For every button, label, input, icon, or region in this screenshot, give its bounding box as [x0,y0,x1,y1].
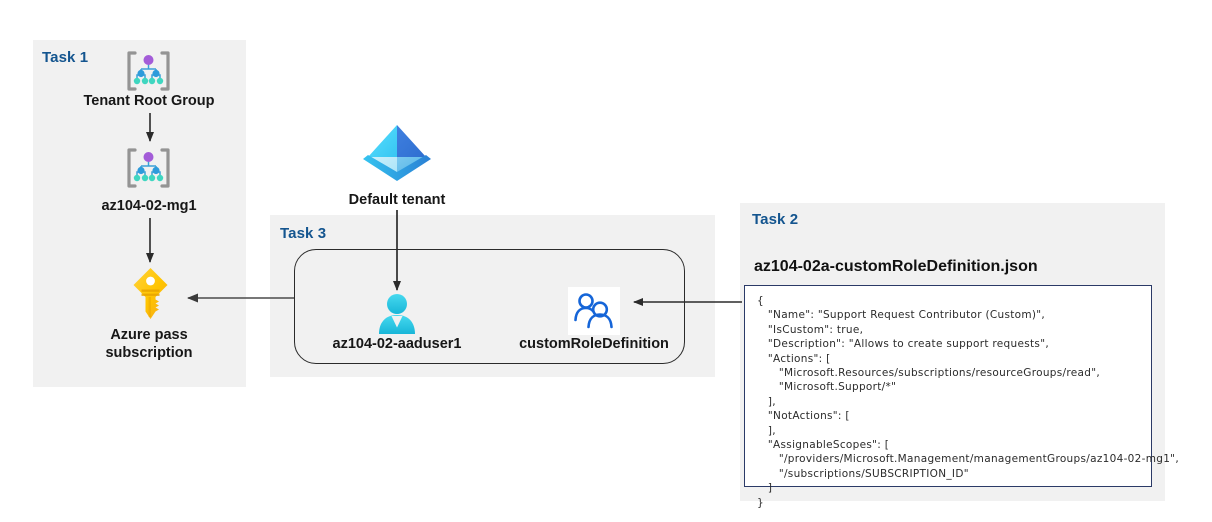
role-definition-json-text: { "Name": "Support Request Contributor (… [757,294,1141,510]
task3-title: Task 3 [280,225,326,242]
management-group-label: az104-02-mg1 [44,198,254,215]
management-group-icon [121,145,176,191]
subscription-label-line1: Azure pass [44,327,254,344]
management-group-icon [121,48,176,94]
user-icon [372,292,422,336]
azure-ad-tenant-icon [357,119,437,191]
subscription-label-line2: subscription [44,345,254,362]
key-icon [126,266,176,324]
json-file-name: az104-02a-customRoleDefinition.json [754,258,1038,276]
custom-role-definition-label: customRoleDefinition [494,336,694,353]
aad-user-label: az104-02-aaduser1 [297,336,497,353]
diagram-canvas: Task 1 Ten [0,0,1212,522]
tenant-root-group-label: Tenant Root Group [44,93,254,110]
role-definition-icon [568,287,620,335]
role-definition-json-card: { "Name": "Support Request Contributor (… [744,285,1152,487]
task2-title: Task 2 [752,211,798,228]
task1-title: Task 1 [42,49,88,66]
default-tenant-label: Default tenant [297,192,497,209]
